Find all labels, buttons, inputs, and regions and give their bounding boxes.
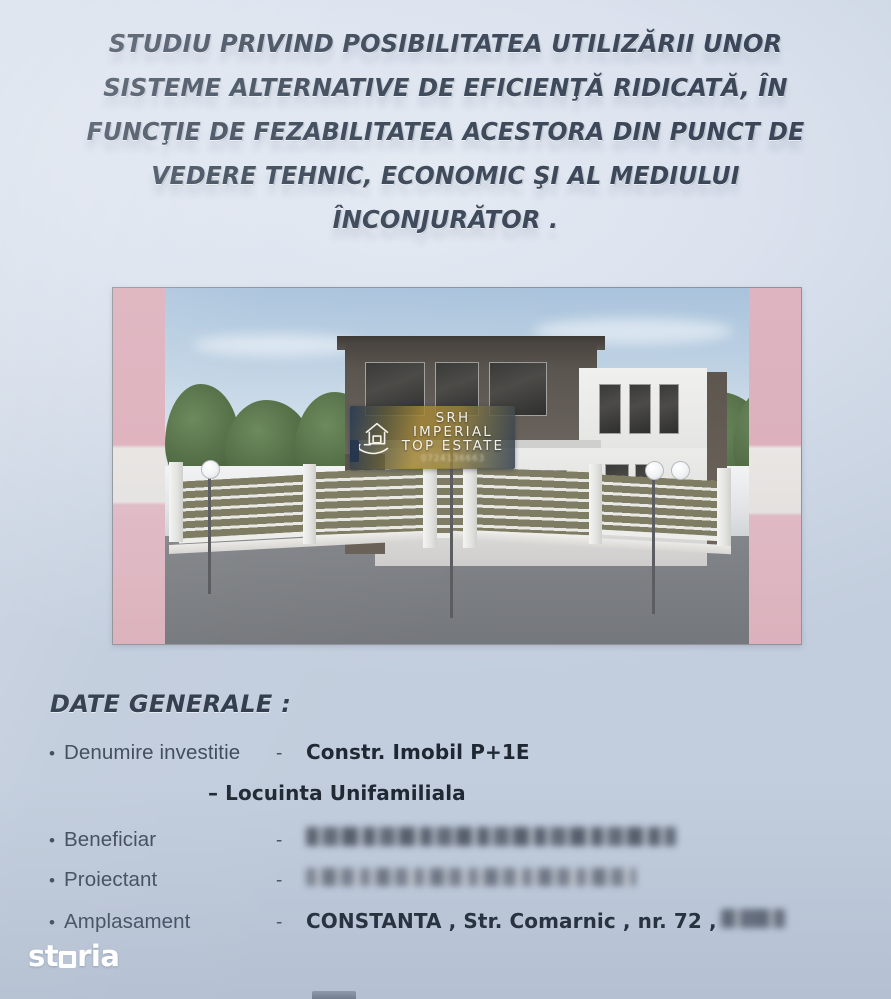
rendering-canvas: SRH IMPERIAL TOP ESTATE 0724136663 [113,288,801,644]
watermark-phone: 0724136663 [397,455,509,464]
storia-square-o-icon [59,951,76,968]
fence-pillar [463,460,477,548]
architectural-rendering-photo: SRH IMPERIAL TOP ESTATE 0724136663 [112,287,802,645]
storia-text-part-2: ria [77,939,119,973]
bullet-icon: • [40,912,64,931]
fact-dash: - [276,743,306,765]
watermark-side-tab [350,440,359,462]
fence-panel [311,468,429,541]
fact-value: Constr. Imobil P+1E [306,740,530,764]
list-item: • Proiectant - [40,868,870,909]
street-lamp-globe [645,461,664,480]
bullet-icon: • [40,870,64,889]
street-lamp-globe [201,460,220,479]
fence-pillar [303,464,316,544]
redacted-value [306,868,636,886]
fence-pillar [717,468,731,546]
fact-value-secondary: – Locuinta Unifamiliala [208,781,466,805]
window-pane [629,384,651,434]
bullet-icon: • [40,830,64,849]
list-item: • Beneficiar - [40,827,870,868]
section-heading-date-generale: DATE GENERALE : [50,690,291,718]
fence-panel [601,475,723,542]
title-line-5: ÎNCONJURĂTOR . [54,198,836,242]
street-lamp-pole [208,476,211,594]
storia-text-part-1: st [28,939,58,973]
fence-pillar [169,462,183,542]
watermark-line-2: TOP ESTATE [397,439,509,453]
list-item-continuation: – Locuinta Unifamiliala [40,781,870,827]
title-line-1: STUDIU PRIVIND POSIBILITATEA UTILIZĂRII … [54,22,836,66]
watermark-line-1: SRH IMPERIAL [397,411,509,439]
document-title: STUDIU PRIVIND POSIBILITATEA UTILIZĂRII … [38,22,853,242]
fact-label: Proiectant [64,868,276,892]
title-line-4: VEDERE TEHNIC, ECONOMIC ŞI AL MEDIULUI [54,154,836,198]
list-item: • Amplasament - CONSTANTA , Str. Comarni… [40,909,870,950]
list-item: • Denumire investitie - Constr. Imobil P… [40,740,870,781]
fact-label: Beneficiar [64,828,276,852]
document-page: STUDIU PRIVIND POSIBILITATEA UTILIZĂRII … [0,0,891,999]
fence-pillar [589,464,602,544]
window-pane [659,384,679,434]
page-edge-artifact [312,991,356,999]
fact-value: CONSTANTA , Str. Comarnic , nr. 72 , [306,909,717,933]
fact-label: Denumire investitie [64,741,276,765]
storia-brand-watermark: st ria [28,939,119,973]
fact-dash: - [276,830,306,852]
fact-label: Amplasament [64,910,276,934]
bullet-icon: • [40,743,64,762]
redacted-value [306,827,676,846]
redacted-value-partial [721,909,785,928]
watermark-text: SRH IMPERIAL TOP ESTATE 0724136663 [397,411,515,464]
street-lamp-pole [652,478,655,614]
fence-pillar [423,460,437,548]
general-data-list: • Denumire investitie - Constr. Imobil P… [40,740,870,950]
window-pane [599,384,621,434]
hand-holding-house-icon [355,415,397,461]
fact-dash: - [276,870,306,892]
title-line-2: SISTEME ALTERNATIVE DE EFICIENŢĂ RIDICAT… [54,66,836,110]
fence-panel [179,474,309,543]
street-lamp-globe [671,461,690,480]
agency-watermark: SRH IMPERIAL TOP ESTATE 0724136663 [350,406,515,469]
fact-dash: - [276,912,306,934]
fence-panel [477,468,595,541]
title-line-3: FUNCŢIE DE FEZABILITATEA ACESTORA DIN PU… [54,110,836,154]
